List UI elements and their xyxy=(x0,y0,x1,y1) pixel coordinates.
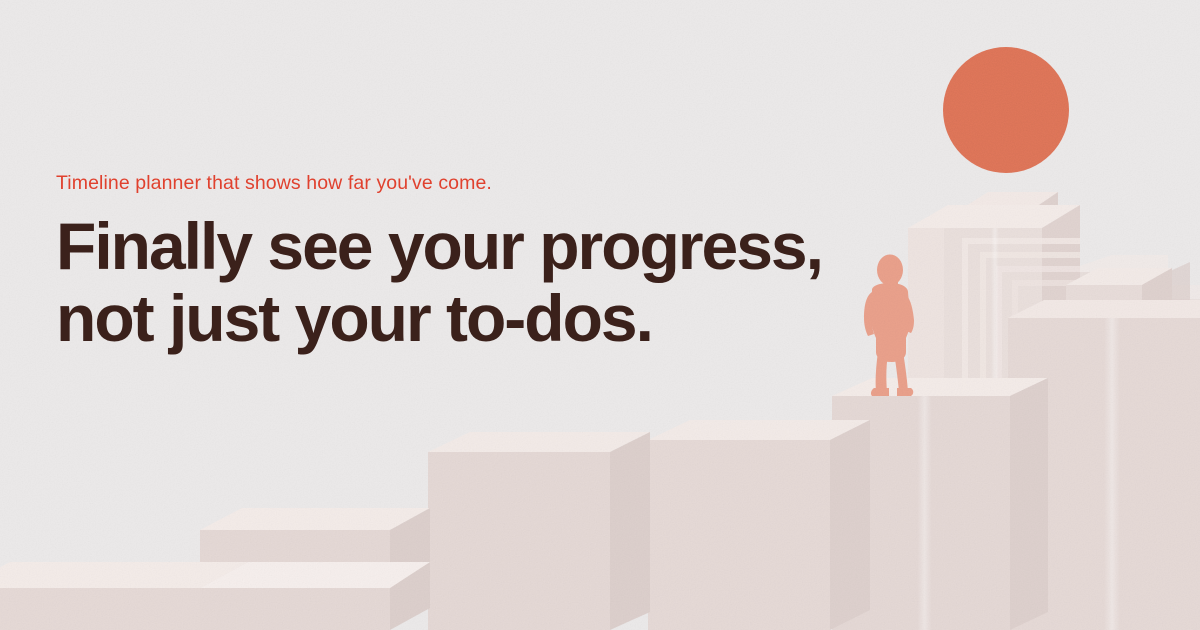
page-title: Finally see your progress, not just your… xyxy=(56,210,876,354)
headline-line-1: Finally see your progress, xyxy=(56,210,876,282)
hero-banner: Timeline planner that shows how far you'… xyxy=(0,0,1200,630)
eyebrow-text: Timeline planner that shows how far you'… xyxy=(56,170,876,196)
copy-block: Timeline planner that shows how far you'… xyxy=(56,170,876,354)
headline-line-2: not just your to-dos. xyxy=(56,282,876,354)
